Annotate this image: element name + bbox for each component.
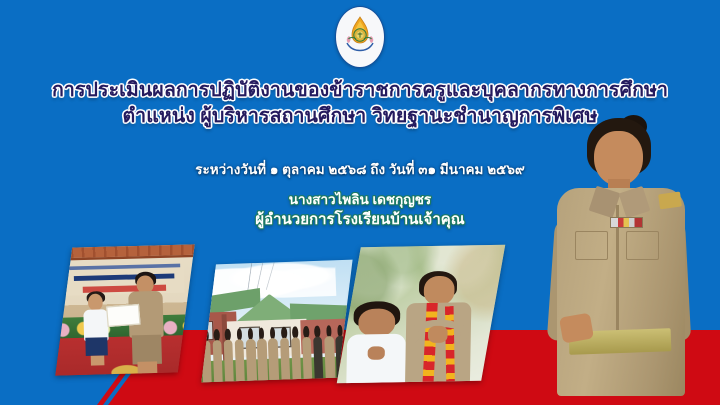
photo-students-thai-costume [337, 245, 506, 383]
title-line-2: ตำแหน่ง ผู้บริหารสถานศึกษา วิทยฐานะชำนาญ… [0, 106, 720, 128]
evaluation-period-text: ระหว่างวันที่ ๑ ตุลาคม ๒๕๖๘ ถึง วันที่ ๓… [0, 158, 720, 180]
presenter-name: นางสาวไพลิน เดชกุญชร [0, 192, 720, 209]
presenter-position: ผู้อำนวยการโรงเรียนบ้านเจ้าคุณ [0, 211, 720, 230]
photo-school-building [201, 260, 352, 383]
photo-award-ceremony [55, 244, 194, 375]
presentation-slide: การประเมินผลการปฏิบัติงานของข้าราชการครู… [0, 0, 720, 405]
title-line-1: การประเมินผลการปฏิบัติงานของข้าราชการครู… [0, 80, 720, 102]
page-title: การประเมินผลการปฏิบัติงานของข้าราชการครู… [0, 80, 720, 128]
presenter-block: นางสาวไพลิน เดชกุญชร ผู้อำนวยการโรงเรียน… [0, 192, 720, 230]
ministry-of-education-emblem-icon [335, 6, 385, 68]
